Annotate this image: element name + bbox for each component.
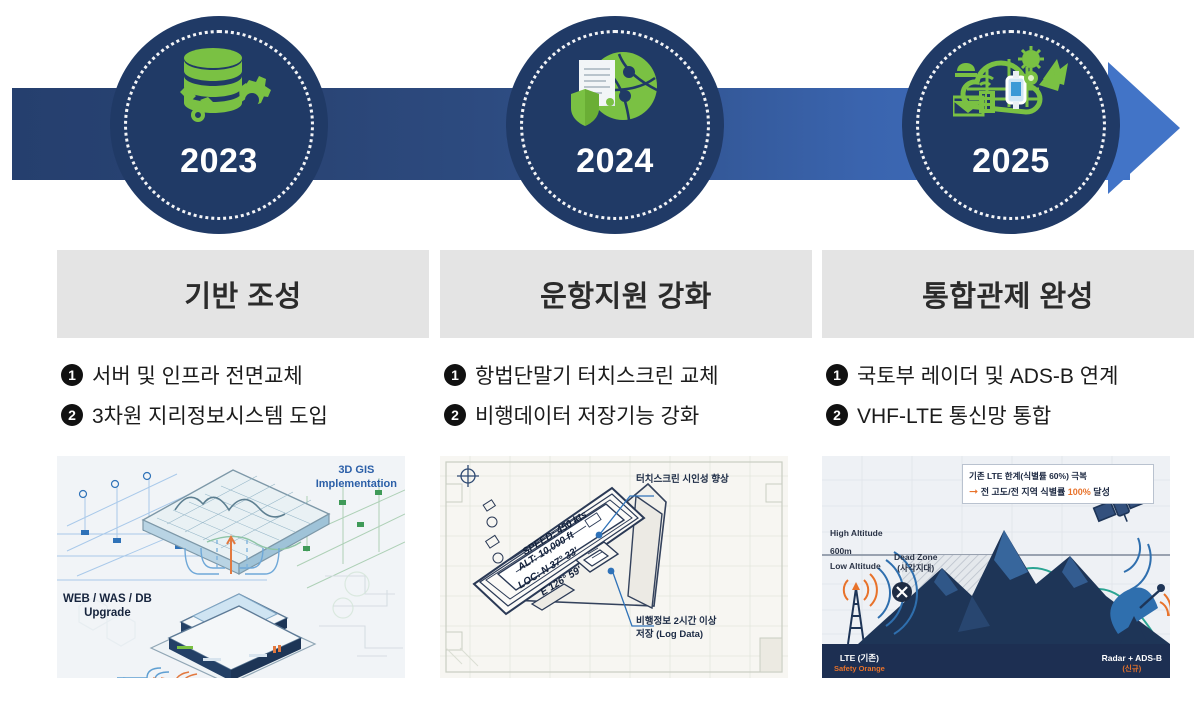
bullet-number: 1 — [444, 364, 466, 386]
column-heading-text: 통합관제 완성 — [922, 273, 1094, 315]
bullet-number: 2 — [444, 404, 466, 426]
lte-coverage-figure: 기존 LTE 한계(식별률 60%) 극복 ➞ 전 고도/전 지역 식별률 10… — [822, 456, 1170, 678]
terminal-blueprint-illustration — [440, 456, 788, 678]
bullet-number: 1 — [61, 364, 83, 386]
deadzone-label-line2: (사각지대) — [894, 563, 937, 574]
figure-label-3d-gis-line1: 3D GIS — [316, 464, 397, 478]
database-gear-icon — [110, 42, 328, 134]
timeline-node-2023[interactable]: 2023 — [110, 16, 328, 234]
timeline-node-2024[interactable]: 2024 — [506, 16, 724, 234]
bullet-number: 2 — [61, 404, 83, 426]
document-shield-network-icon — [506, 42, 724, 134]
column-heading-2: 운항지원 강화 — [440, 250, 812, 338]
column-2024: 운항지원 강화 1 항법단말기 터치스크린 교체 2 비행데이터 저장기능 강화 — [440, 250, 812, 678]
figure-label-web-was-db: WEB / WAS / DB Upgrade — [63, 592, 152, 621]
figure-callout-lte-line2-hl: 100% — [1068, 487, 1091, 497]
figure-callout-lte-line2-pre: 전 고도/전 지역 식별률 — [981, 487, 1068, 497]
legend-radar-adsb: Radar + ADS-B (신규) — [1102, 653, 1162, 674]
3d-gis-server-figure: 3D GIS Implementation WEB / WAS / DB Upg… — [57, 456, 405, 678]
figure-label-3d-gis: 3D GIS Implementation — [316, 464, 397, 492]
legend-lte-existing-main: LTE (기존) — [834, 653, 885, 664]
bullet-text: VHF-LTE 통신망 통합 — [857, 400, 1051, 430]
bullet-text: 비행데이터 저장기능 강화 — [475, 400, 699, 430]
bullet-list-3: 1 국토부 레이더 및 ADS-B 연계 2 VHF-LTE 통신망 통합 — [822, 360, 1194, 440]
list-item: 2 3차원 지리정보시스템 도입 — [61, 400, 429, 440]
figure-label-3d-gis-line2: Implementation — [316, 478, 397, 492]
arrow-glyph-icon: ➞ — [969, 486, 978, 498]
axis-label-600m: 600m — [830, 546, 852, 556]
figure-callout-lte: 기존 LTE 한계(식별률 60%) 극복 ➞ 전 고도/전 지역 식별률 10… — [962, 464, 1154, 504]
bullet-number: 1 — [826, 364, 848, 386]
column-heading-3: 통합관제 완성 — [822, 250, 1194, 338]
column-2023: 기반 조성 1 서버 및 인프라 전면교체 2 3차원 지리정보시스템 도입 — [57, 250, 429, 678]
node-year-label: 2025 — [902, 142, 1120, 181]
node-year-label: 2023 — [110, 142, 328, 181]
list-item: 2 비행데이터 저장기능 강화 — [444, 400, 812, 440]
column-heading-text: 기반 조성 — [184, 273, 301, 315]
timeline-node-2025[interactable]: 2025 — [902, 16, 1120, 234]
navigation-terminal-blueprint-figure: SPEED: 450 kts ALT: 10,000 ft LOC: N 37°… — [440, 456, 788, 678]
list-item: 1 국토부 레이더 및 ADS-B 연계 — [826, 360, 1194, 400]
legend-lte-existing: LTE (기존) Safety Orange — [834, 653, 885, 674]
axis-label-high-altitude: High Altitude — [830, 528, 883, 538]
legend-radar-adsb-sub: (신규) — [1102, 664, 1162, 674]
bullet-text: 3차원 지리정보시스템 도입 — [92, 400, 328, 430]
figure-callout-logdata: 비행정보 2시간 이상 저장 (Log Data) — [636, 616, 716, 642]
axis-label-low-altitude: Low Altitude — [830, 561, 881, 571]
column-2025: 통합관제 완성 1 국토부 레이더 및 ADS-B 연계 2 VHF-LTE 통… — [822, 250, 1194, 678]
deadzone-label: Dead Zone (사각지대) — [894, 552, 937, 573]
deadzone-label-line1: Dead Zone — [894, 552, 937, 563]
legend-radar-adsb-main: Radar + ADS-B — [1102, 653, 1162, 664]
bullet-text: 항법단말기 터치스크린 교체 — [475, 360, 719, 390]
bullet-text: 서버 및 인프라 전면교체 — [92, 360, 303, 390]
column-heading-text: 운항지원 강화 — [540, 273, 712, 315]
legend-lte-existing-sub: Safety Orange — [834, 664, 885, 674]
node-year-label: 2024 — [506, 142, 724, 181]
figure-callout-touchscreen: 터치스크린 시인성 향상 — [636, 474, 729, 486]
bullet-number: 2 — [826, 404, 848, 426]
list-item: 1 서버 및 인프라 전면교체 — [61, 360, 429, 400]
figure-callout-lte-line2: ➞ 전 고도/전 지역 식별률 100% 달성 — [969, 485, 1147, 498]
figure-callout-logdata-line1: 비행정보 2시간 이상 — [636, 616, 716, 629]
cloud-iot-icon — [902, 42, 1120, 134]
figure-label-web-line1: WEB / WAS / DB — [63, 592, 152, 606]
figure-callout-lte-line1: 기존 LTE 한계(식별률 60%) 극복 — [969, 470, 1147, 482]
bullet-list-1: 1 서버 및 인프라 전면교체 2 3차원 지리정보시스템 도입 — [57, 360, 429, 440]
timeline-band: 2023 — [0, 0, 1200, 250]
bullet-list-2: 1 항법단말기 터치스크린 교체 2 비행데이터 저장기능 강화 — [440, 360, 812, 440]
list-item: 1 항법단말기 터치스크린 교체 — [444, 360, 812, 400]
list-item: 2 VHF-LTE 통신망 통합 — [826, 400, 1194, 440]
columns-area: 기반 조성 1 서버 및 인프라 전면교체 2 3차원 지리정보시스템 도입 — [0, 250, 1200, 714]
column-heading-1: 기반 조성 — [57, 250, 429, 338]
figure-label-web-line2: Upgrade — [63, 606, 152, 620]
figure-callout-logdata-line2: 저장 (Log Data) — [636, 629, 716, 642]
figure-callout-lte-line2-post: 달성 — [1091, 487, 1110, 497]
bullet-text: 국토부 레이더 및 ADS-B 연계 — [857, 360, 1118, 390]
